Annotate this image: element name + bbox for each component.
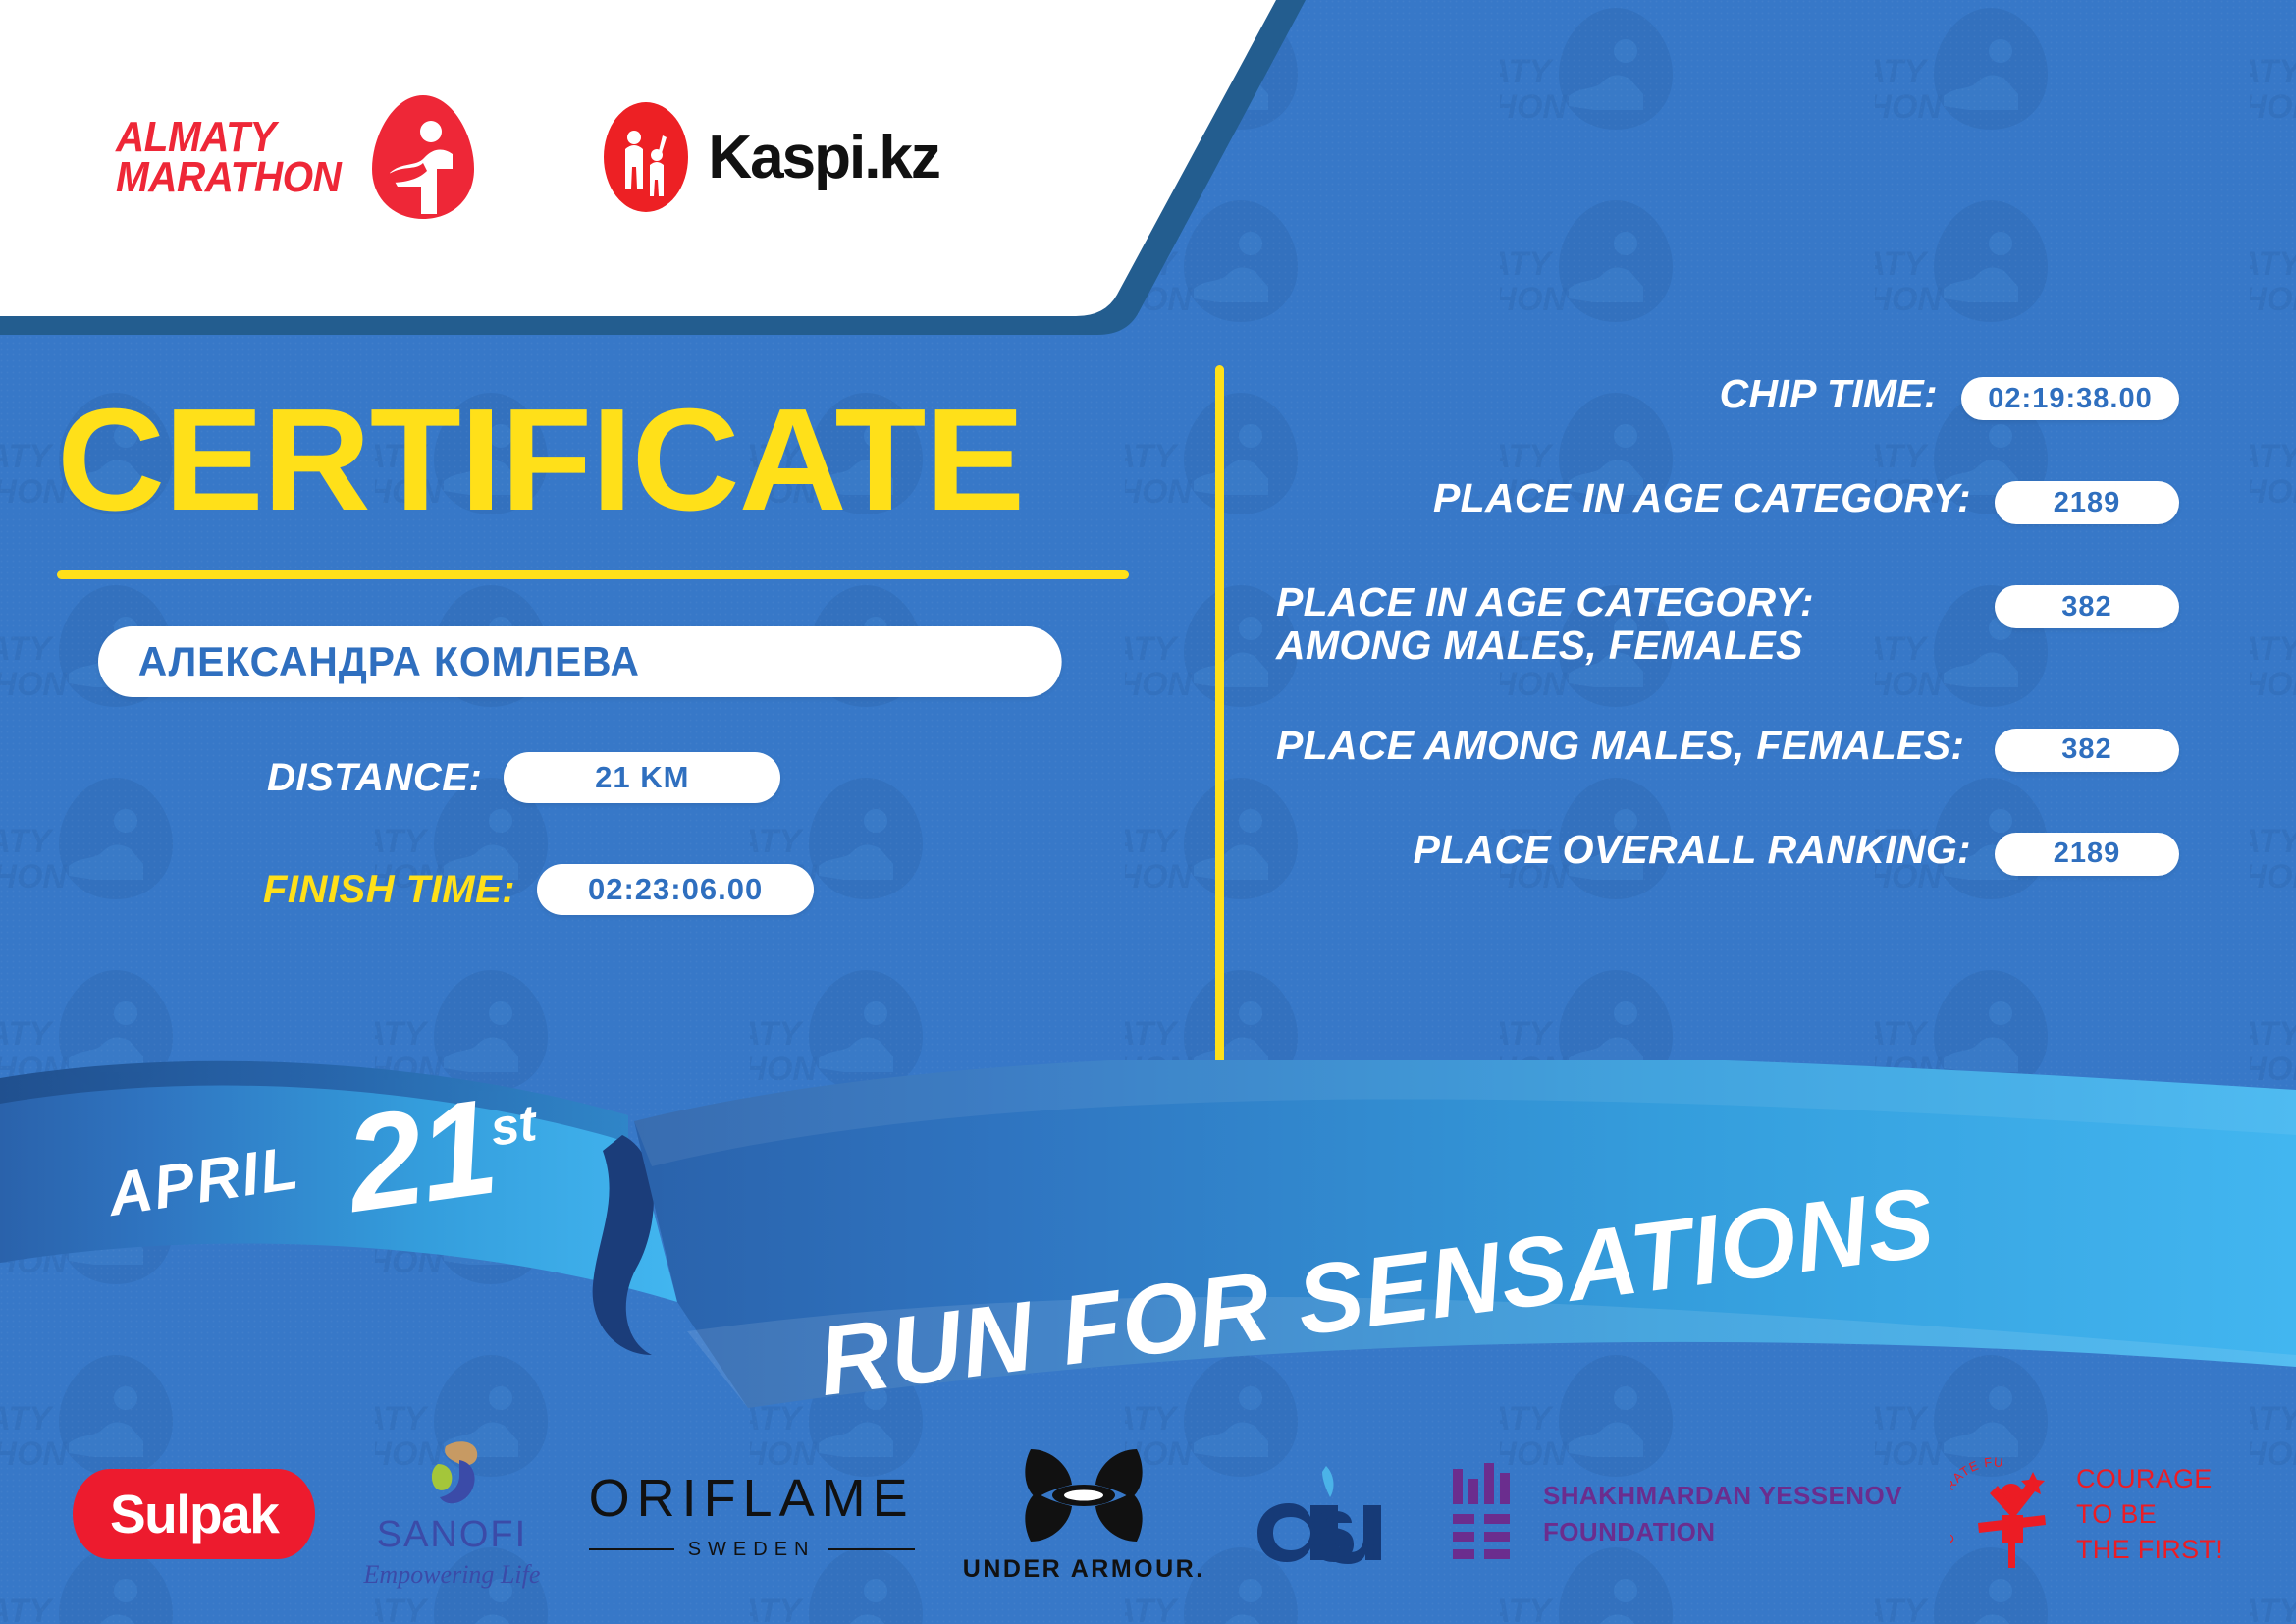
corporate-fund-line3: THE FIRST! bbox=[2076, 1532, 2223, 1567]
sanofi-bird-icon bbox=[416, 1438, 487, 1511]
place-age-category-gender-label: PLACE IN AGE CATEGORY: AMONG MALES, FEMA… bbox=[1276, 581, 1971, 668]
under-armour-icon bbox=[1017, 1445, 1150, 1545]
stat-row-place-age-category-gender: PLACE IN AGE CATEGORY: AMONG MALES, FEMA… bbox=[1276, 581, 2179, 668]
oriflame-tagline: SWEDEN bbox=[688, 1539, 816, 1561]
under-armour-label: UNDER ARMOUR. bbox=[963, 1555, 1205, 1584]
stat-row-finish-time: FINISH TIME: 02:23:06.00 bbox=[263, 864, 1168, 915]
sulpak-label: Sulpak bbox=[110, 1483, 278, 1545]
stat-row-chip-time: CHIP TIME: 02:19:38.00 bbox=[1276, 373, 2179, 420]
yessenov-line2: FOUNDATION bbox=[1543, 1514, 1902, 1550]
sanofi-tagline: Empowering Life bbox=[364, 1560, 541, 1590]
sanofi-label: SANOFI bbox=[377, 1514, 527, 1556]
sponsor-logos-strip: Sulpak SANOFI Empowering Life ORIFLAME S… bbox=[0, 1404, 2296, 1624]
asu-wordmark-icon bbox=[1254, 1460, 1403, 1568]
oriflame-label: ORIFLAME bbox=[589, 1468, 915, 1529]
place-among-gender-label: PLACE AMONG MALES, FEMALES: bbox=[1276, 725, 1971, 768]
place-overall-value: 2189 bbox=[1995, 833, 2179, 876]
sponsor-logo-corporate-fund: CORPORATE FUND COURAGE TO BE THE FIRST! bbox=[1950, 1454, 2223, 1574]
athlete-name-field: АЛЕКСАНДРА КОМЛЕВА bbox=[98, 626, 1062, 697]
sponsor-logo-asu bbox=[1254, 1460, 1403, 1568]
finish-time-label: FINISH TIME: bbox=[263, 868, 515, 912]
sponsor-logo-oriflame: ORIFLAME SWEDEN bbox=[589, 1468, 915, 1561]
finish-time-value: 02:23:06.00 bbox=[537, 864, 814, 915]
page-title: CERTIFICATE bbox=[57, 388, 1201, 533]
vertical-divider bbox=[1215, 365, 1224, 1102]
stat-row-distance: DISTANCE: 21 KM bbox=[267, 752, 1168, 803]
corporate-fund-line1: COURAGE bbox=[2076, 1461, 2223, 1496]
corporate-fund-line2: TO BE bbox=[2076, 1496, 2223, 1532]
place-age-category-label: PLACE IN AGE CATEGORY: bbox=[1276, 477, 1971, 520]
sponsor-logo-under-armour: UNDER ARMOUR. bbox=[963, 1445, 1205, 1584]
stat-row-place-overall: PLACE OVERALL RANKING: 2189 bbox=[1276, 829, 2179, 876]
distance-label: DISTANCE: bbox=[267, 756, 482, 800]
place-age-category-gender-value: 382 bbox=[1995, 585, 2179, 628]
sponsor-logo-sanofi: SANOFI Empowering Life bbox=[364, 1438, 541, 1590]
yessenov-foundation-icon bbox=[1451, 1463, 1520, 1565]
oriflame-rule-left bbox=[589, 1548, 674, 1550]
distance-value: 21 KM bbox=[504, 752, 780, 803]
sponsor-logo-sulpak: Sulpak bbox=[73, 1469, 315, 1559]
stat-row-place-age-category: PLACE IN AGE CATEGORY: 2189 bbox=[1276, 477, 2179, 524]
stat-row-place-among-gender: PLACE AMONG MALES, FEMALES: 382 bbox=[1276, 725, 2179, 772]
chip-time-value: 02:19:38.00 bbox=[1961, 377, 2179, 420]
ribbon-day-number: 21 bbox=[338, 1071, 504, 1241]
place-age-category-value: 2189 bbox=[1995, 481, 2179, 524]
place-overall-label: PLACE OVERALL RANKING: bbox=[1276, 829, 1971, 872]
ribbon-day-label: 21st bbox=[339, 1072, 548, 1233]
ribbon-day-suffix: st bbox=[487, 1095, 540, 1158]
chip-time-label: CHIP TIME: bbox=[1276, 373, 1938, 416]
oriflame-rule-right bbox=[828, 1548, 914, 1550]
corporate-fund-figure-icon: CORPORATE FUND bbox=[1950, 1454, 2064, 1574]
certificate-stats-column: CHIP TIME: 02:19:38.00 PLACE IN AGE CATE… bbox=[1276, 373, 2179, 933]
yessenov-line1: SHAKHMARDAN YESSENOV bbox=[1543, 1478, 1902, 1514]
certificate-left-column: CERTIFICATE АЛЕКСАНДРА КОМЛЕВА DISTANCE:… bbox=[0, 339, 1168, 915]
place-among-gender-value: 382 bbox=[1995, 729, 2179, 772]
sponsor-logo-yessenov-foundation: SHAKHMARDAN YESSENOV FOUNDATION bbox=[1451, 1463, 1902, 1565]
title-divider bbox=[57, 570, 1129, 579]
